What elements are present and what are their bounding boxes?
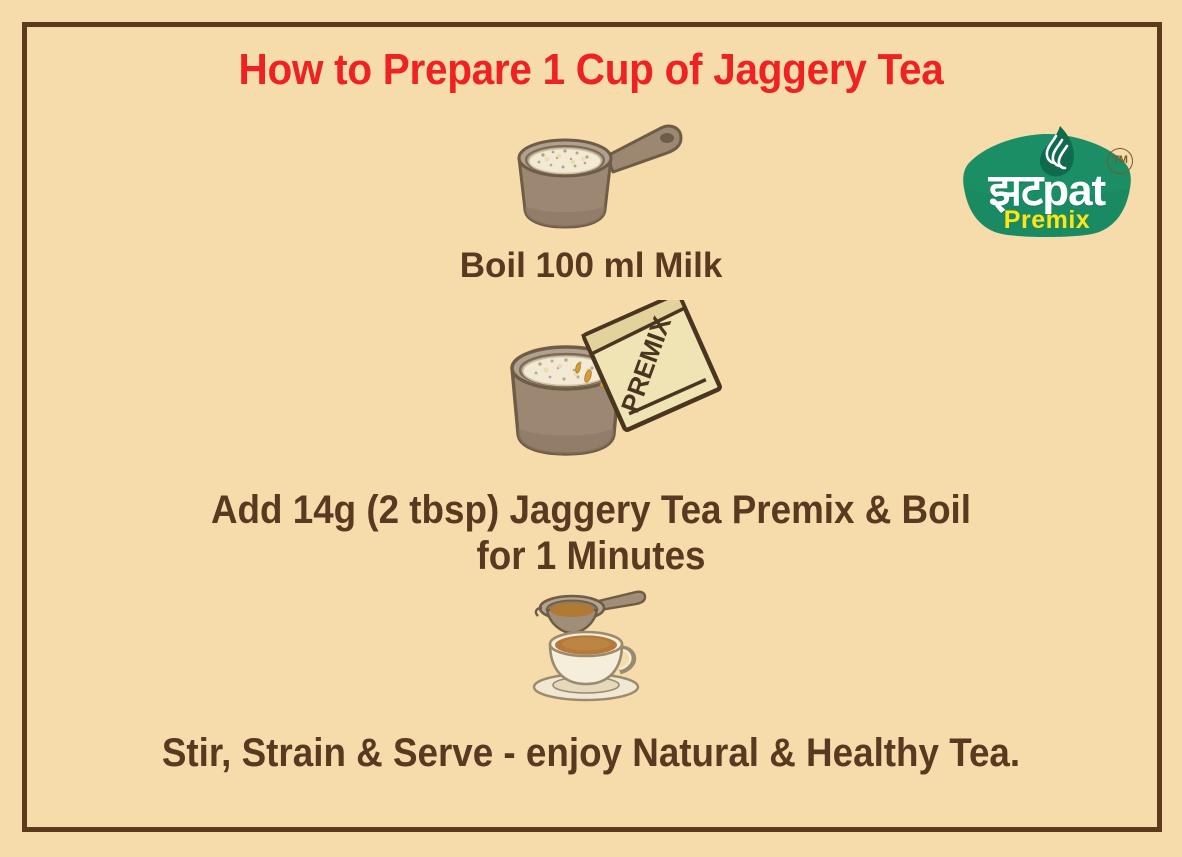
steam-swirl-icon <box>1040 126 1074 176</box>
logo-badge-shape <box>952 118 1142 244</box>
pot-with-premix-sachet-icon: PREMIX <box>492 300 727 485</box>
teacup-with-strainer-icon <box>508 588 678 708</box>
page-title: How to Prepare 1 Cup of Jaggery Tea <box>47 45 1134 95</box>
step-1-caption: Boil 100 ml Milk <box>0 246 1182 286</box>
brand-logo: झटpat Premix <box>952 118 1142 244</box>
step-2-caption: Add 14g (2 tbsp) Jaggery Tea Premix & Bo… <box>47 487 1134 579</box>
recipe-poster: How to Prepare 1 Cup of Jaggery Tea झटpa… <box>0 0 1182 857</box>
trademark-icon: TM <box>1107 148 1133 174</box>
step-3-caption: Stir, Strain & Serve - enjoy Natural & H… <box>47 731 1134 776</box>
saucepan-with-milk-icon <box>495 110 695 240</box>
